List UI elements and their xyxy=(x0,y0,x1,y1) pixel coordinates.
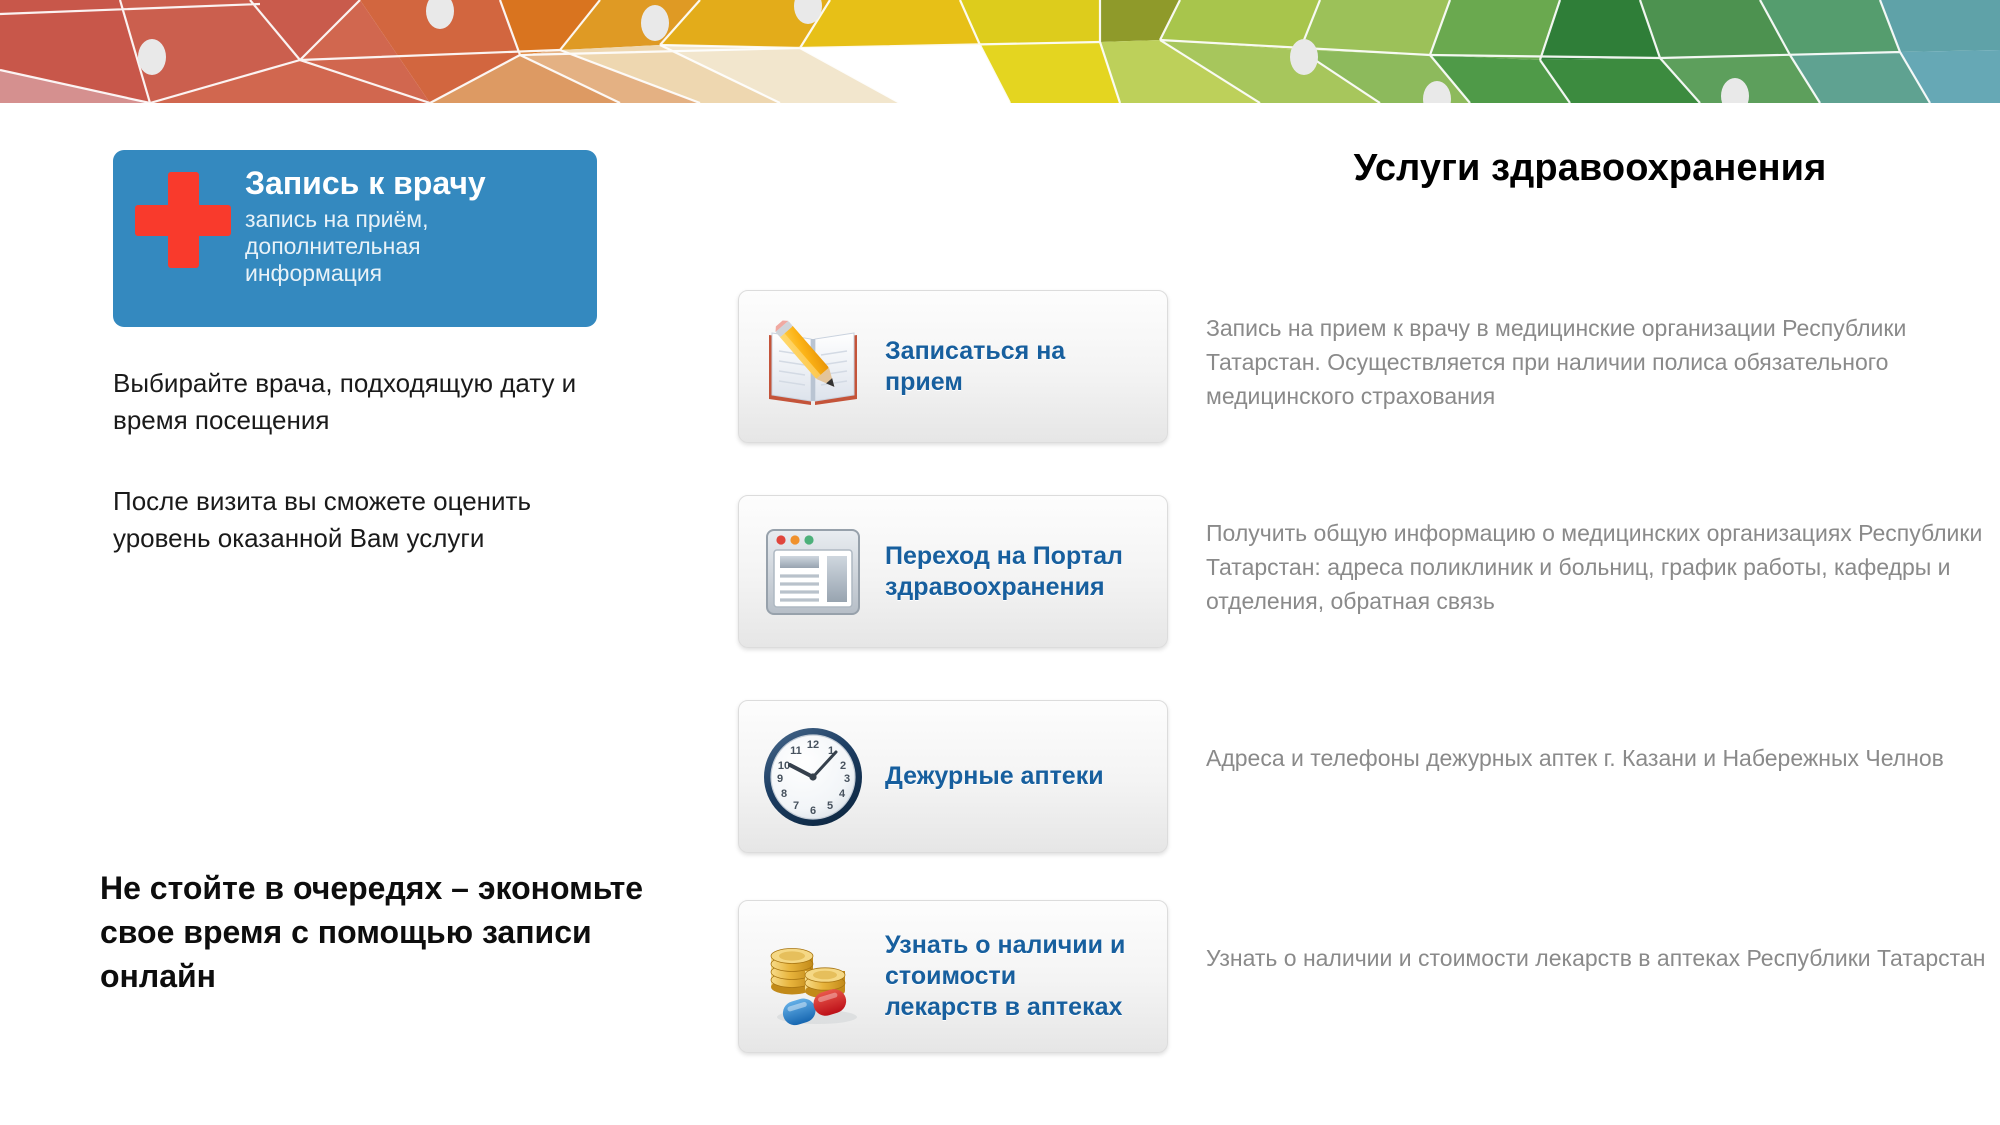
service-description: Узнать о наличии и стоимости лекарств в … xyxy=(1206,942,1988,976)
svg-text:11: 11 xyxy=(790,745,802,757)
service-card-label: Узнать о наличии и стоимости лекарств в … xyxy=(885,930,1125,1023)
left-paragraph-choose-doctor: Выбирайте врача, подходящую дату и время… xyxy=(113,365,603,439)
service-description: Получить общую информацию о медицинских … xyxy=(1206,517,1988,618)
page-title: Услуги здравоохранения xyxy=(1180,147,2000,190)
promo-banner-zapis-k-vrachu[interactable]: Запись к врачу запись на приём, дополнит… xyxy=(113,150,597,327)
svg-text:3: 3 xyxy=(844,773,850,785)
promo-heading: Запись к врачу xyxy=(245,167,587,199)
service-card-zapisatsya-na-priem[interactable]: Записаться на прием xyxy=(738,290,1168,443)
polygon-mesh xyxy=(0,0,2000,103)
svg-text:7: 7 xyxy=(793,800,799,812)
promo-subline-1: запись на приём, xyxy=(245,206,587,233)
red-cross-icon xyxy=(135,172,231,268)
service-card-label: Записаться на прием xyxy=(885,336,1065,398)
service-card-label: Переход на Портал здравоохранения xyxy=(885,541,1123,603)
decorative-header-band xyxy=(0,0,2000,103)
promo-text-block: Запись к врачу запись на приём, дополнит… xyxy=(245,167,587,287)
coins-and-capsule-icon xyxy=(757,921,869,1033)
svg-text:5: 5 xyxy=(827,800,833,812)
service-row: Записаться на прием Запись на прием к вр… xyxy=(738,290,1988,443)
wall-clock-icon: 12 1 2 3 4 5 6 7 8 9 10 11 xyxy=(757,721,869,833)
service-card-perehod-na-portal[interactable]: Переход на Портал здравоохранения xyxy=(738,495,1168,648)
browser-window-icon xyxy=(757,516,869,628)
svg-text:8: 8 xyxy=(781,788,787,800)
svg-text:4: 4 xyxy=(839,788,846,800)
svg-text:12: 12 xyxy=(807,739,819,751)
promo-subline-2: дополнительная xyxy=(245,233,587,260)
left-slogan: Не стойте в очередях – экономьте свое вр… xyxy=(100,866,660,998)
service-description: Запись на прием к врачу в медицинские ор… xyxy=(1206,312,1988,413)
svg-text:2: 2 xyxy=(840,760,846,772)
service-card-label: Дежурные аптеки xyxy=(885,761,1104,792)
service-card-dezhurnye-apteki[interactable]: 12 1 2 3 4 5 6 7 8 9 10 11 Дежурные ап xyxy=(738,700,1168,853)
svg-text:6: 6 xyxy=(810,805,816,817)
service-card-nalichie-lekarstv[interactable]: Узнать о наличии и стоимости лекарств в … xyxy=(738,900,1168,1053)
left-paragraph-rate-service: После визита вы сможете оценить уровень … xyxy=(113,483,603,557)
service-description: Адреса и телефоны дежурных аптек г. Каза… xyxy=(1206,742,1988,776)
service-row: Узнать о наличии и стоимости лекарств в … xyxy=(738,900,1988,1053)
service-row: 12 1 2 3 4 5 6 7 8 9 10 11 Дежурные ап xyxy=(738,700,1988,853)
open-book-with-pencil-icon xyxy=(757,311,869,423)
svg-text:9: 9 xyxy=(777,773,783,785)
promo-subline-3: информация xyxy=(245,260,587,287)
service-row: Переход на Портал здравоохранения Получи… xyxy=(738,495,1988,648)
